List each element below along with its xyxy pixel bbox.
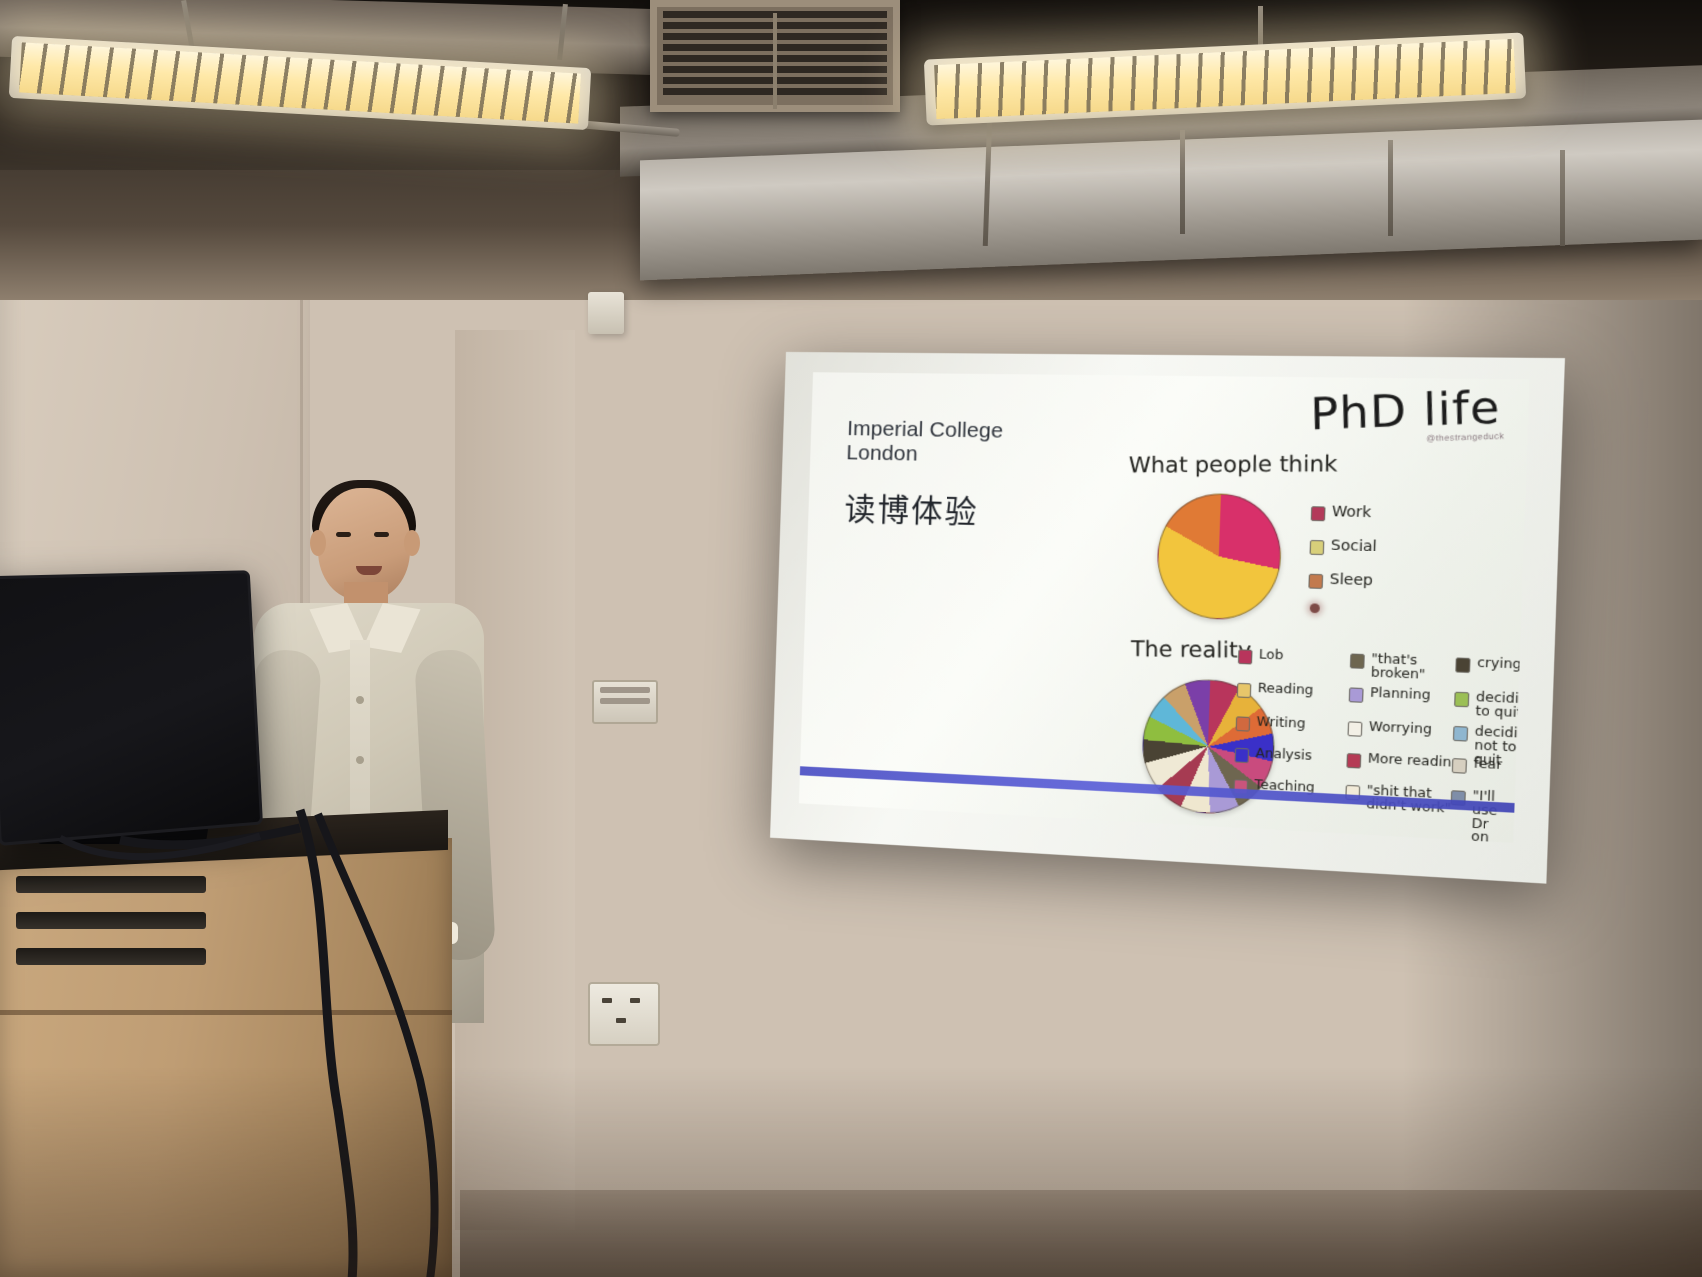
legend-swatch-sleep (1308, 574, 1323, 589)
legend-label: crying (1477, 656, 1522, 671)
legend-swatch (1454, 692, 1469, 708)
legend-label: fear (1473, 757, 1502, 772)
legend-swatch (1346, 753, 1361, 769)
legend-item-writing: Writing (1236, 714, 1306, 734)
legend-item-i-ll-use-dr-on-my-mail: "I'll use Dr on my mail" (1448, 788, 1515, 843)
legend-swatch-social (1310, 540, 1325, 555)
wall-panel-plate (592, 680, 658, 724)
legend-swatch (1236, 716, 1251, 731)
ear-right (404, 530, 420, 556)
legend-item-planning: Planning (1349, 685, 1431, 705)
legend-label-social: Social (1331, 538, 1378, 554)
legend-label: Reading (1258, 682, 1314, 698)
legend-label: "that's broken" (1371, 652, 1426, 681)
air-vent (650, 0, 900, 112)
pie-chart-what-people-think (1155, 492, 1283, 621)
legend-label: Analysis (1255, 747, 1312, 763)
legend-swatch (1237, 683, 1252, 698)
legend-swatch (1452, 758, 1467, 774)
slide-title-chinese: 读博体验 (844, 483, 980, 532)
legend-swatch (1235, 748, 1250, 763)
lecture-room-photo: Imperial College London 读博体验 PhD life @t… (0, 0, 1702, 1277)
eye-right (374, 532, 389, 537)
legend-item-that-s-broken: "that's broken" (1349, 651, 1426, 681)
power-socket (588, 982, 660, 1046)
legend-swatch (1350, 653, 1365, 668)
duct-hanger-rod (1388, 140, 1393, 236)
wall-thermostat-box (588, 292, 624, 334)
legend-label-sleep: Sleep (1329, 572, 1373, 588)
projector-hotspot-dot (1310, 603, 1320, 613)
chart-title-what-people-think: What people think (1129, 451, 1338, 477)
legend-item-worrying: Worrying (1347, 719, 1432, 740)
ear-left (310, 530, 326, 556)
legend-item-reading: Reading (1237, 681, 1314, 701)
legend-item-social: Social (1310, 538, 1378, 557)
legend-swatch-work (1311, 506, 1326, 521)
legend-swatch (1347, 721, 1362, 736)
legend-swatch (1453, 726, 1468, 742)
legend-label: Planning (1370, 686, 1431, 702)
legend-item-work: Work (1311, 504, 1372, 522)
phd-life-heading: PhD life (1310, 381, 1501, 440)
imperial-college-logo: Imperial College London (846, 417, 1004, 468)
duct-hanger-rod (1180, 130, 1185, 234)
legend-swatch (1349, 687, 1364, 702)
legend-label: Writing (1256, 715, 1305, 731)
legend-item-sleep: Sleep (1308, 572, 1373, 591)
projection-screen: Imperial College London 读博体验 PhD life @t… (770, 352, 1565, 884)
legend-item-crying: crying (1455, 655, 1521, 675)
floor-shadow (0, 1067, 1702, 1277)
legend-swatch (1455, 657, 1470, 673)
chart-title-the-reality: The reality (1131, 636, 1252, 663)
duct-hanger-rod (1560, 150, 1565, 246)
legend-item-more-reading: More reading (1346, 751, 1460, 774)
legend-label-work: Work (1332, 505, 1372, 521)
eye-left (336, 532, 351, 537)
legend-item-fear: fear (1452, 756, 1503, 776)
logo-line-2: London (846, 441, 1003, 468)
legend-swatch (1238, 649, 1253, 664)
legend-label: Worrying (1369, 720, 1432, 736)
legend-item-lob: Lob (1238, 647, 1284, 666)
legend-label: Lob (1259, 648, 1284, 662)
legend-label: More reading (1368, 752, 1461, 770)
presentation-slide: Imperial College London 读博体验 PhD life @t… (799, 372, 1530, 843)
legend-label: "I'll use Dr on my mail" (1470, 789, 1515, 843)
logo-line-1: Imperial College (847, 417, 1004, 444)
artist-handle: @thestrangeduck (1426, 431, 1504, 443)
